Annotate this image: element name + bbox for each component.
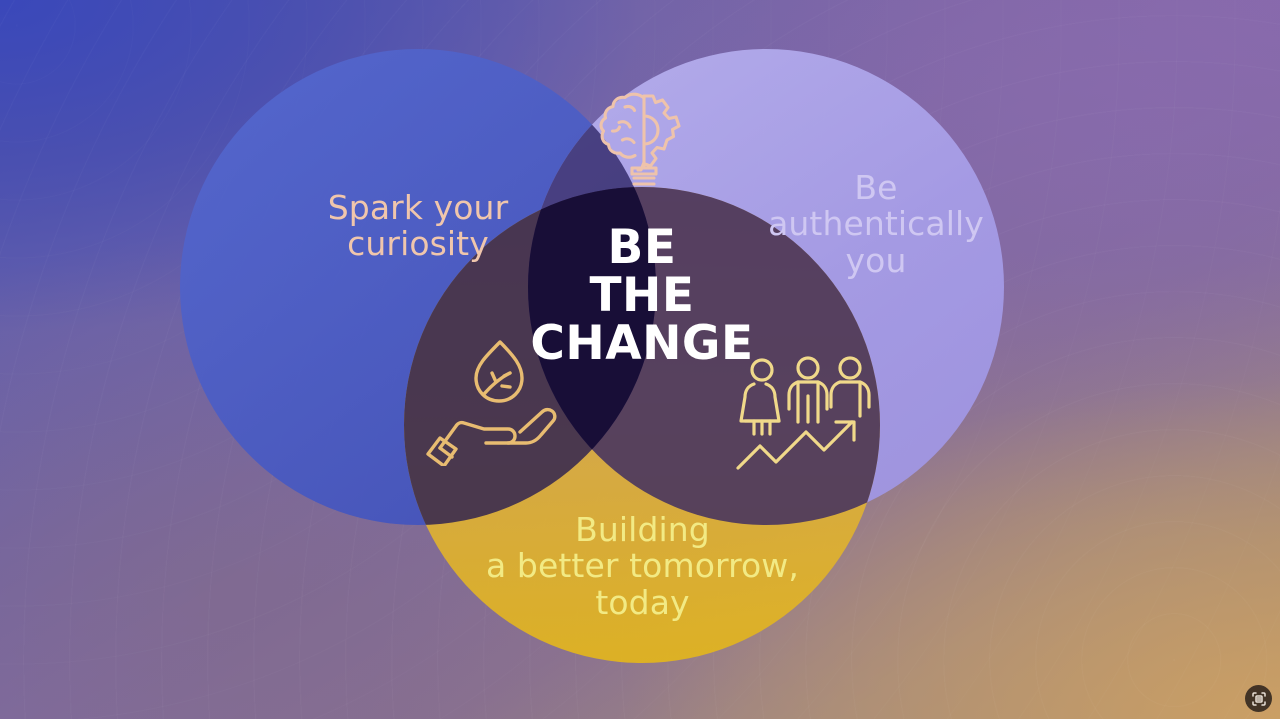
venn-diagram (0, 0, 1280, 719)
scan-button[interactable] (1245, 685, 1272, 712)
slide-canvas: Spark your curiosity Be authentically yo… (0, 0, 1280, 719)
scan-frame-icon (1251, 691, 1267, 707)
